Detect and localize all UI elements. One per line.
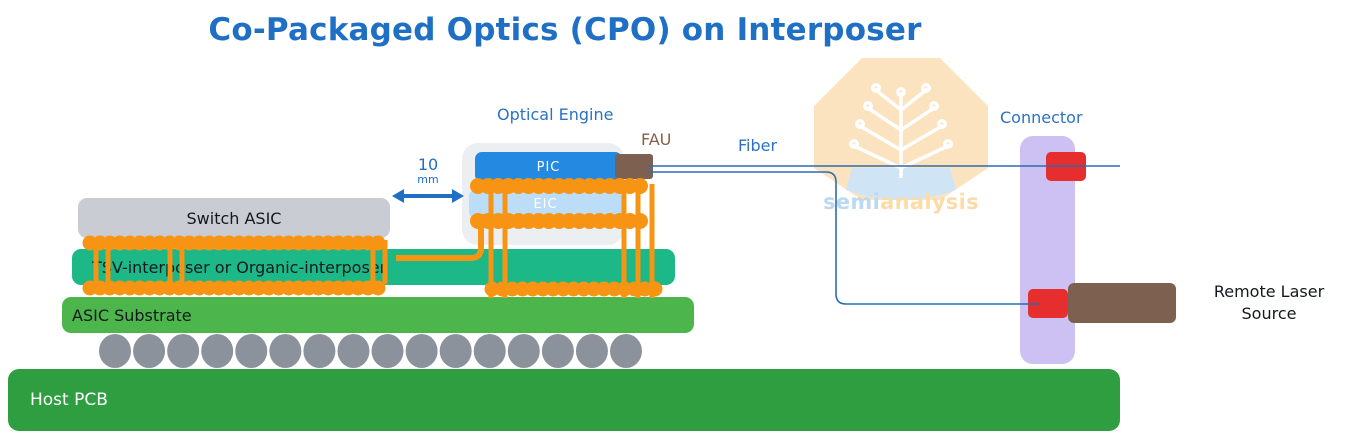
interposer-label: TSV-interposer or Organic-interposer (92, 258, 386, 277)
connector-port-bottom (1028, 289, 1068, 318)
asic-substrate-label: ASIC Substrate (72, 306, 192, 325)
remote-laser-source-label: Remote Laser Source (1194, 281, 1344, 325)
bga-ball (235, 334, 267, 368)
bga-ball (576, 334, 608, 368)
optical-engine-label: Optical Engine (497, 105, 613, 124)
semianalysis-wordmark: semianalysis (806, 190, 996, 214)
oe-microbump (632, 213, 648, 229)
asic-substrate-block: ASIC Substrate (62, 297, 694, 333)
bga-ball (269, 334, 301, 368)
oe-microbump (632, 178, 648, 194)
oe-microbump (622, 178, 638, 194)
bga-ball (337, 334, 369, 368)
bga-ball (167, 334, 199, 368)
bga-ball (542, 334, 574, 368)
bga-ball (508, 334, 540, 368)
eic-block: EIC (469, 190, 622, 218)
bga-ball (201, 334, 233, 368)
switch-asic-label: Switch ASIC (187, 209, 282, 228)
host-pcb-block: Host PCB (8, 369, 1120, 431)
bga-ball (440, 334, 472, 368)
dimension-value: 10 (405, 157, 451, 172)
dimension-unit: mm (405, 172, 451, 187)
bga-ball (406, 334, 438, 368)
wordmark-analysis: analysis (880, 190, 979, 214)
bga-ball (372, 334, 404, 368)
page-title: Co-Packaged Optics (CPO) on Interposer (0, 12, 1130, 48)
wordmark-semi: semi (823, 190, 880, 214)
fau-block (615, 154, 653, 179)
pic-label: PIC (537, 160, 561, 175)
fau-label: FAU (641, 130, 671, 149)
connector-label: Connector (1000, 108, 1083, 127)
host-pcb-label: Host PCB (30, 390, 108, 410)
bga-ball (303, 334, 335, 368)
pic-block: PIC (475, 152, 622, 182)
fiber-label: Fiber (738, 136, 777, 155)
bga-ball (474, 334, 506, 368)
oe-microbump (622, 213, 638, 229)
bga-ball (99, 334, 131, 368)
diagram-canvas: Co-Packaged Optics (CPO) on Interposer s… (0, 0, 1349, 442)
remote-laser-source-block (1068, 283, 1176, 323)
dimension-arrow-10mm (392, 189, 464, 203)
eic-label: EIC (533, 197, 557, 212)
interposer-block: TSV-interposer or Organic-interposer (72, 249, 675, 285)
connector-port-top (1046, 152, 1086, 181)
bga-ball (610, 334, 642, 368)
dimension-label: 10 mm (405, 157, 451, 187)
bga-ball (133, 334, 165, 368)
switch-asic-block: Switch ASIC (78, 198, 390, 238)
